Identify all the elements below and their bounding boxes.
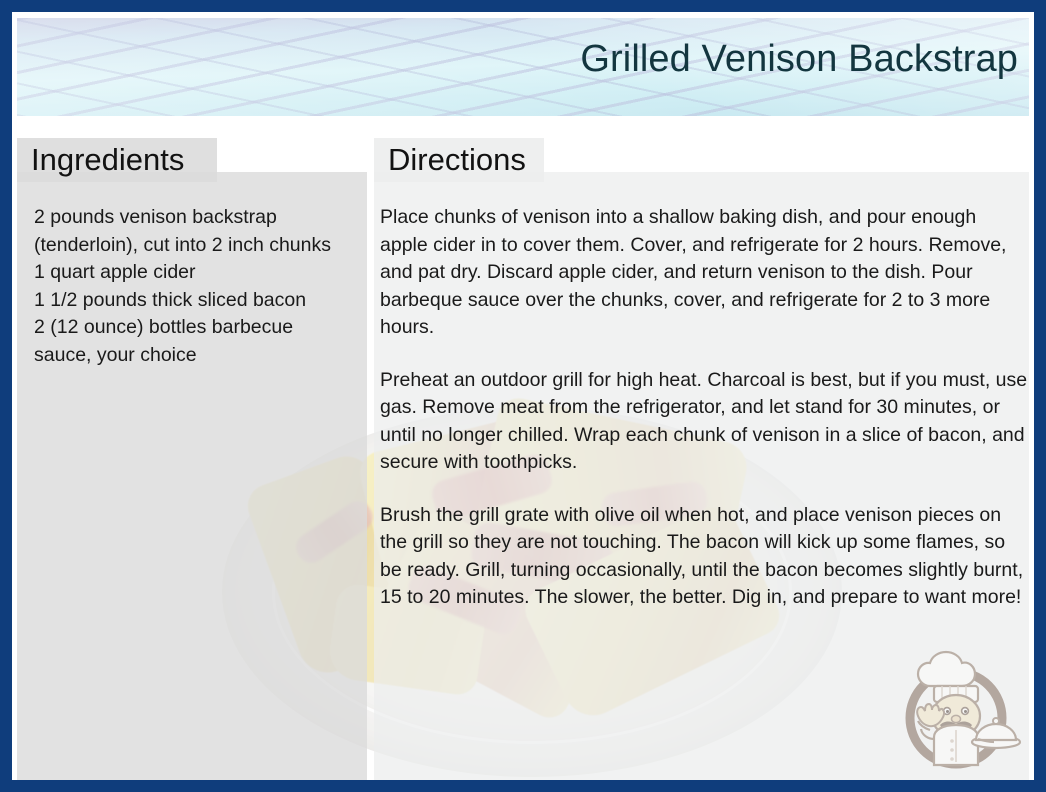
directions-paragraph: Preheat an outdoor grill for high heat. … [380, 367, 1028, 477]
directions-paragraph: Brush the grill grate with olive oil whe… [380, 502, 1028, 612]
ingredients-heading: Ingredients [17, 138, 217, 182]
recipe-slide-frame: Grilled Venison Backstrap Ingredients Di… [0, 0, 1046, 792]
chef-mascot-logo-icon [890, 642, 1022, 774]
ingredient-line: 1 quart apple cider [34, 259, 368, 287]
recipe-page: Grilled Venison Backstrap Ingredients Di… [12, 12, 1034, 780]
directions-paragraph: Place chunks of venison into a shallow b… [380, 204, 1028, 342]
ingredient-line: (tenderloin), cut into 2 inch chunks [34, 232, 368, 260]
ingredients-list: 2 pounds venison backstrap (tenderloin),… [34, 204, 368, 369]
directions-text: Place chunks of venison into a shallow b… [380, 204, 1028, 612]
directions-heading: Directions [374, 138, 544, 182]
ingredient-line: 2 (12 ounce) bottles barbecue [34, 314, 368, 342]
ingredient-line: sauce, your choice [34, 342, 368, 370]
ingredient-line: 2 pounds venison backstrap [34, 204, 368, 232]
page-title: Grilled Venison Backstrap [580, 38, 1018, 81]
ingredient-line: 1 1/2 pounds thick sliced bacon [34, 287, 368, 315]
